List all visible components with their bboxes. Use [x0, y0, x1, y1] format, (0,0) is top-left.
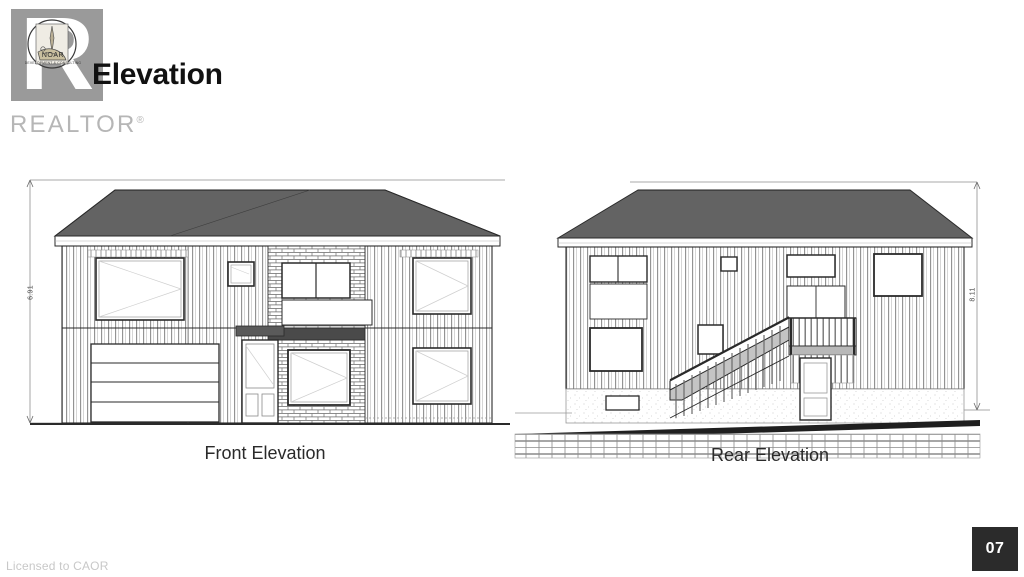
page-number-badge: 07 — [972, 527, 1018, 571]
rear-basement-door — [800, 358, 831, 420]
rear-window-upper-left — [590, 256, 647, 319]
realtor-wordmark: REALTOR® — [10, 111, 146, 139]
noar-emblem-icon — [24, 18, 80, 74]
front-upper-trim-left — [88, 250, 188, 257]
noar-emblem-label: NOAR — [18, 52, 88, 59]
front-height-dimension-label: 6.91 — [28, 278, 35, 308]
rear-height-dimension-label: 8.11 — [970, 280, 977, 310]
page-title: Elevation — [92, 58, 223, 92]
rear-elevation-drawing — [510, 168, 1000, 468]
elevation-drawing-area: Front Elevation 6.91 — [0, 150, 1024, 500]
front-window-lower-right — [413, 348, 471, 404]
rear-basement-window — [606, 396, 639, 410]
front-elevation-caption: Front Elevation — [130, 443, 400, 464]
rear-elevation-caption: Rear Elevation — [635, 445, 905, 466]
rear-window-far-right — [874, 254, 922, 296]
rear-window-vent-small — [721, 257, 737, 271]
front-window-accent-small — [228, 262, 254, 286]
front-roof — [55, 190, 500, 246]
rear-roof — [558, 190, 972, 247]
front-window-upper-left — [96, 258, 184, 320]
rear-window-lower-mid — [698, 325, 723, 354]
license-note: Licensed to CAOR — [6, 559, 109, 573]
front-upper-trim-right — [400, 250, 478, 257]
page-header: R NOAR DEVELOPMENT & CONSULTING REALTOR®… — [0, 0, 1024, 150]
registered-trademark-icon: ® — [137, 115, 147, 126]
realtor-wordmark-text: REALTOR — [10, 111, 137, 138]
front-window-upper-right — [413, 258, 471, 314]
front-garage-door — [91, 344, 219, 422]
front-elevation-drawing — [10, 168, 530, 468]
rear-window-lower-left — [590, 328, 642, 371]
front-entry-door — [236, 326, 284, 423]
front-window-lower-center — [288, 350, 350, 405]
noar-emblem-subtitle: DEVELOPMENT & CONSULTING — [12, 61, 94, 65]
